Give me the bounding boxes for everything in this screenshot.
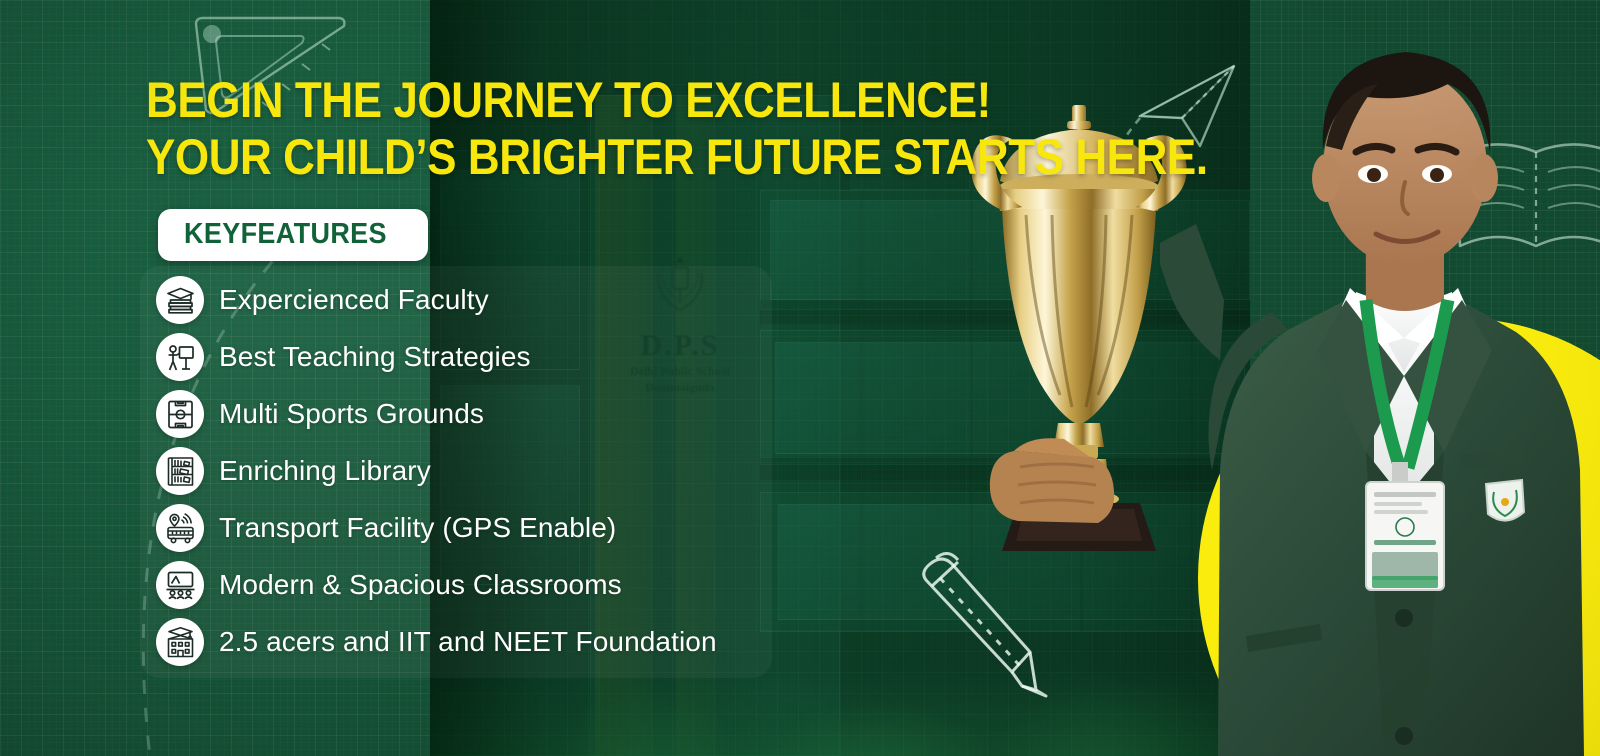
teacher-whiteboard-icon	[156, 333, 204, 381]
key-features-badge-label: KEYFEATURES	[184, 218, 387, 251]
admission-banner: D.P.S Delhi Public School Dammaiguda	[0, 0, 1600, 756]
headline-line-1: BEGIN THE JOURNEY TO EXCELLENCE!	[146, 72, 1208, 129]
content-area: BEGIN THE JOURNEY TO EXCELLENCE! YOUR CH…	[0, 0, 900, 756]
school-building-cap-icon	[156, 618, 204, 666]
bookshelf-icon	[156, 447, 204, 495]
key-features-badge: KEYFEATURES	[158, 209, 428, 261]
list-item-label: Multi Sports Grounds	[219, 398, 484, 430]
list-item-label: Transport Facility (GPS Enable)	[219, 512, 616, 544]
list-item: Modern & Spacious Classrooms	[156, 561, 876, 609]
sports-field-icon	[156, 390, 204, 438]
classroom-desks-icon	[156, 561, 204, 609]
gps-bus-icon	[156, 504, 204, 552]
list-item: Enriching Library	[156, 447, 876, 495]
list-item: Expercienced Faculty	[156, 276, 876, 324]
list-item-label: Modern & Spacious Classrooms	[219, 569, 622, 601]
list-item-label: Expercienced Faculty	[219, 284, 489, 316]
list-item: Transport Facility (GPS Enable)	[156, 504, 876, 552]
graduation-cap-books-icon	[156, 276, 204, 324]
list-item-label: 2.5 acers and IIT and NEET Foundation	[219, 626, 717, 658]
list-item: Best Teaching Strategies	[156, 333, 876, 381]
list-item-label: Enriching Library	[219, 455, 431, 487]
list-item-label: Best Teaching Strategies	[219, 341, 531, 373]
feature-list: Expercienced Faculty	[156, 276, 876, 666]
list-item: Multi Sports Grounds	[156, 390, 876, 438]
page-title: BEGIN THE JOURNEY TO EXCELLENCE! YOUR CH…	[146, 72, 1208, 186]
student-photo	[1160, 0, 1600, 756]
list-item: 2.5 acers and IIT and NEET Foundation	[156, 618, 876, 666]
headline-line-2: YOUR CHILD’S BRIGHTER FUTURE STARTS HERE…	[146, 129, 1208, 186]
